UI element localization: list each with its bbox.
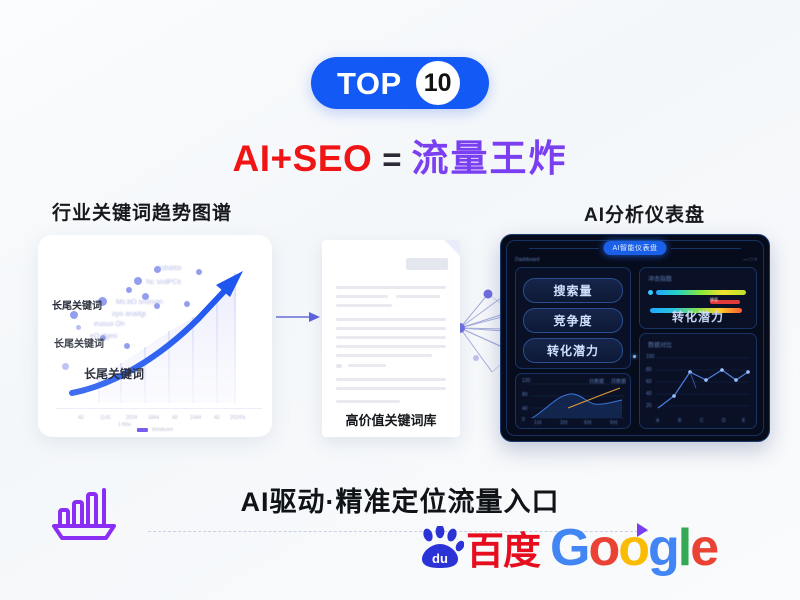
trend-axis-line bbox=[56, 408, 262, 409]
keyword-label: 长尾关键词 bbox=[84, 365, 144, 382]
top-badge-number: 10 bbox=[424, 71, 452, 96]
scatter-dot bbox=[76, 325, 81, 330]
google-letter-l: l bbox=[678, 522, 690, 574]
headline-left: AI+SEO bbox=[232, 138, 372, 179]
chart-axis-label: 20 bbox=[646, 403, 652, 409]
keyword-label: 长尾关键词 bbox=[52, 297, 102, 312]
scatter-dot bbox=[134, 277, 142, 285]
top-badge-circle: 10 bbox=[416, 61, 460, 105]
axis-tick: 40 bbox=[214, 415, 220, 421]
dashboard-window-label: Dashboard bbox=[515, 257, 539, 263]
top-badge-word: TOP bbox=[337, 68, 402, 99]
gradient-marker bbox=[648, 290, 653, 295]
keyword-label: 长尾关键词 bbox=[54, 335, 104, 350]
doc-header-block bbox=[406, 258, 448, 270]
google-letter-e: e bbox=[690, 522, 717, 574]
baidu-logo: du 百度 bbox=[418, 526, 540, 570]
doc-line bbox=[336, 378, 446, 381]
ai-dashboard: AI智能仪表盘 Dashboard — □ × 搜索量 竞争度 转化潜力 1 bbox=[500, 234, 770, 442]
chart-axis-label: 9月 bbox=[610, 419, 618, 426]
chart-axis-label: 120 bbox=[522, 378, 530, 384]
doc-line bbox=[396, 295, 440, 298]
headline-right: 流量王炸 bbox=[412, 138, 568, 179]
google-letter-g2: g bbox=[648, 522, 678, 574]
search-engine-logos: du 百度 G o o g l e bbox=[418, 522, 717, 574]
document-caption: 高价值关键词库 bbox=[322, 410, 460, 429]
axis-caption: 1 Kbu bbox=[118, 422, 131, 428]
arrow-connector-icon bbox=[276, 311, 320, 323]
legend-label: 月数据 bbox=[611, 378, 626, 385]
axis-tick: 1044 bbox=[190, 415, 201, 421]
trend-chart-card: lcdsbtsi Nc sndPCti Ms.bO snonian oyo an… bbox=[38, 235, 272, 437]
doc-line bbox=[336, 345, 446, 348]
dashboard-decor-line bbox=[529, 248, 599, 249]
caption-trend-map: 行业关键词趋势图谱 bbox=[52, 198, 232, 225]
impact-gradient-bar bbox=[656, 290, 746, 295]
scatter-dot bbox=[70, 311, 78, 319]
doc-line bbox=[336, 327, 446, 330]
chart-axis-label: C bbox=[700, 418, 704, 424]
chart-axis-label: B bbox=[678, 418, 681, 424]
panel-title: 冲击指数 bbox=[648, 274, 672, 283]
comparison-chart-panel: 数据对比 bbox=[639, 333, 757, 429]
bar-chart-pedestal-icon bbox=[48, 484, 120, 546]
axis-tick: 40 bbox=[172, 415, 178, 421]
chart-axis-label: D bbox=[722, 418, 726, 424]
dashboard-title-badge: AI智能仪表盘 bbox=[603, 241, 666, 255]
baidu-wordmark: 百度 bbox=[466, 534, 540, 570]
impact-index-panel: 冲击指数 峰值 转化潜力 bbox=[639, 267, 757, 329]
google-letter-g1: G bbox=[550, 522, 588, 574]
doc-line bbox=[336, 336, 446, 339]
bottom-slogan: AI驱动·精准定位流量入口 bbox=[0, 480, 800, 519]
doc-line bbox=[336, 286, 446, 289]
baidu-du-text: du bbox=[432, 551, 448, 566]
accent-dot bbox=[633, 355, 636, 358]
page-title: AI+SEO=流量王炸 bbox=[0, 128, 800, 182]
ghost-term: Ms.bO snonian bbox=[116, 299, 163, 306]
google-letter-o2: o bbox=[618, 522, 648, 574]
doc-line bbox=[336, 295, 388, 298]
legend-label: 日数据 bbox=[589, 378, 604, 385]
legend-swatch bbox=[137, 428, 148, 432]
headline-operator: = bbox=[372, 141, 411, 178]
legend-label: trendcore bbox=[152, 427, 173, 433]
scatter-dot bbox=[184, 301, 190, 307]
chart-axis-label: 40 bbox=[646, 391, 652, 397]
chart-axis-label: 100 bbox=[646, 354, 654, 360]
keyword-library-document: 高价值关键词库 bbox=[322, 240, 460, 437]
dashboard-decor-line bbox=[671, 248, 741, 249]
baidu-paw-icon: du bbox=[418, 526, 464, 570]
doc-line bbox=[336, 318, 446, 321]
ghost-term: euouo Oh bbox=[94, 321, 125, 328]
doc-line bbox=[336, 400, 400, 403]
panel-overlay-text: 转化潜力 bbox=[672, 308, 724, 325]
line-chart-svg bbox=[640, 334, 756, 428]
google-letter-o1: o bbox=[588, 522, 618, 574]
chart-axis-label: 80 bbox=[646, 367, 652, 373]
scatter-dot bbox=[196, 269, 202, 275]
axis-tick: 40 bbox=[78, 415, 84, 421]
ghost-term: lcdsbtsi bbox=[158, 265, 181, 272]
trend-legend: trendcore bbox=[137, 427, 173, 433]
chart-axis-label: E bbox=[742, 418, 745, 424]
top-rank-badge: TOP 10 bbox=[311, 57, 489, 109]
chart-axis-label: 1月 bbox=[534, 419, 542, 426]
caption-ai-dashboard: AI分析仪表盘 bbox=[584, 200, 705, 227]
doc-line bbox=[336, 354, 432, 357]
scatter-dot bbox=[62, 363, 69, 370]
area-chart-panel: 120 80 40 0 日数据 月数据 1月 3月 6月 9月 bbox=[515, 373, 631, 429]
ghost-term: Nc sndPCti bbox=[146, 279, 181, 286]
trend-chart-inner: lcdsbtsi Nc sndPCti Ms.bO snonian oyo an… bbox=[38, 235, 272, 437]
doc-line bbox=[348, 364, 386, 367]
chart-axis-label: 80 bbox=[522, 392, 528, 398]
slide-canvas: TOP 10 AI+SEO=流量王炸 行业关键词趋势图谱 AI分析仪表盘 bbox=[0, 0, 800, 600]
metric-pill-search-volume[interactable]: 搜索量 bbox=[523, 278, 623, 303]
axis-tick: 2024 bbox=[126, 415, 137, 421]
metric-pill-conversion-potential[interactable]: 转化潜力 bbox=[523, 338, 623, 363]
metric-pill-competition[interactable]: 竞争度 bbox=[523, 308, 623, 333]
doc-bullet bbox=[336, 364, 342, 368]
doc-line bbox=[336, 304, 392, 307]
chart-axis-label: 6月 bbox=[584, 419, 592, 426]
chart-axis-label: 40 bbox=[522, 406, 528, 412]
scatter-dot bbox=[124, 343, 130, 349]
chart-axis-label: 3月 bbox=[560, 419, 568, 426]
dashboard-window-controls[interactable]: — □ × bbox=[743, 257, 757, 263]
peak-label: 峰值 bbox=[710, 297, 718, 303]
chart-axis-label: 0 bbox=[522, 417, 525, 423]
chart-axis-label: 60 bbox=[646, 379, 652, 385]
doc-line bbox=[336, 387, 446, 390]
scatter-dot bbox=[126, 287, 132, 293]
axis-tick: 2024% bbox=[230, 415, 246, 421]
chart-axis-label: A bbox=[656, 418, 659, 424]
ghost-term: oyo anaitgi bbox=[112, 311, 146, 318]
google-logo: G o o g l e bbox=[550, 522, 717, 574]
axis-tick: 1844 bbox=[148, 415, 159, 421]
axis-tick: 1141 bbox=[100, 415, 111, 421]
metrics-panel: 搜索量 竞争度 转化潜力 bbox=[515, 267, 631, 369]
